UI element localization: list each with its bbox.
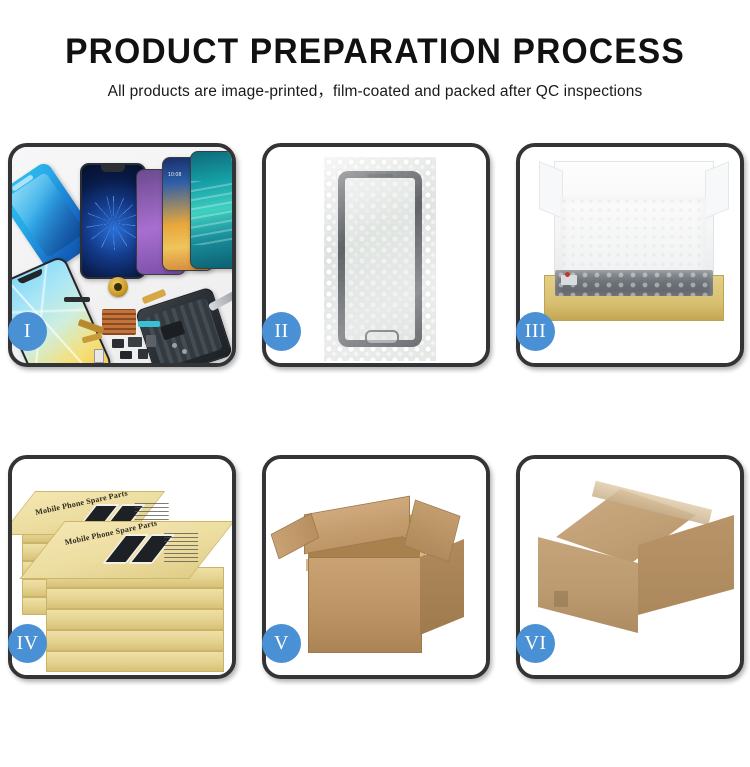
copper-mesh-part xyxy=(102,309,136,335)
box-spec-lines xyxy=(164,530,198,562)
bubble-wrap-sheet xyxy=(324,157,436,361)
step-panel-1[interactable]: 10:08 xyxy=(8,143,236,367)
flex-cable-part xyxy=(138,321,160,327)
step-panel-2[interactable]: II xyxy=(262,143,490,367)
product-preparation-page: PRODUCT PREPARATION PROCESS All products… xyxy=(0,0,750,750)
step-badge-3: III xyxy=(516,312,555,351)
wrap-texture xyxy=(555,270,713,296)
spare-parts-cluster xyxy=(64,275,194,363)
kraft-box-top-front: Mobile Phone Spare Parts xyxy=(42,521,212,579)
carton-front-face xyxy=(308,557,422,653)
kraft-tray xyxy=(544,275,724,321)
carton-handle-tab xyxy=(560,645,574,659)
lid-flap-right xyxy=(705,161,729,219)
step-badge-5: V xyxy=(262,624,301,663)
kraft-box-layer xyxy=(46,651,224,672)
page-header: PRODUCT PREPARATION PROCESS All products… xyxy=(0,30,750,101)
kraft-box-layer xyxy=(46,609,224,630)
phone-status-text: 10:08 xyxy=(168,172,182,178)
page-title: PRODUCT PREPARATION PROCESS xyxy=(15,30,735,74)
foam-texture xyxy=(560,197,706,281)
flex-cable-part xyxy=(82,333,103,344)
process-row-top: 10:08 xyxy=(8,143,742,367)
red-marker xyxy=(565,272,570,277)
step-panel-4[interactable]: Mobile Phone Spare Parts xyxy=(8,455,236,679)
carton-handle-tab xyxy=(554,591,568,607)
phone-notch xyxy=(101,165,125,172)
box-stack: Mobile Phone Spare Parts xyxy=(16,471,232,671)
step-badge-2: II xyxy=(262,312,301,351)
packed-screen xyxy=(555,270,713,296)
tray-front-lip xyxy=(545,304,723,320)
step-panel-3[interactable]: III xyxy=(516,143,744,367)
flex-cable-part xyxy=(78,319,105,334)
process-steps-grid: 10:08 xyxy=(8,143,742,767)
screw-part xyxy=(182,349,187,354)
page-subtitle: All products are image-printed，film-coat… xyxy=(0,79,750,101)
step-panel-6[interactable]: VI xyxy=(516,455,744,679)
plastic-gloss xyxy=(324,157,436,361)
camera-module-part xyxy=(138,349,148,359)
kraft-box-layer xyxy=(46,588,224,609)
kraft-box-layer xyxy=(46,630,224,651)
chip-part xyxy=(146,335,156,347)
wallpaper-waves xyxy=(191,181,232,245)
chip-part xyxy=(120,351,132,359)
step-badge-1: I xyxy=(8,312,47,351)
phone-teal xyxy=(190,151,232,269)
screw-part xyxy=(172,343,177,348)
open-carton xyxy=(286,499,464,657)
foam-liner xyxy=(560,197,706,281)
chip-part xyxy=(112,339,124,348)
speaker-coil-part xyxy=(108,277,128,297)
sim-tray-part xyxy=(94,349,104,363)
step-badge-4: IV xyxy=(8,624,47,663)
chip-part xyxy=(128,337,142,347)
process-row-bottom: Mobile Phone Spare Parts xyxy=(8,455,742,679)
vibrator-bar-part xyxy=(64,297,90,302)
wallpaper-rays xyxy=(86,196,140,250)
sealed-carton xyxy=(538,489,732,653)
step-panel-5[interactable]: V xyxy=(262,455,490,679)
flex-cable-part xyxy=(142,289,167,304)
step-badge-6: VI xyxy=(516,624,555,663)
